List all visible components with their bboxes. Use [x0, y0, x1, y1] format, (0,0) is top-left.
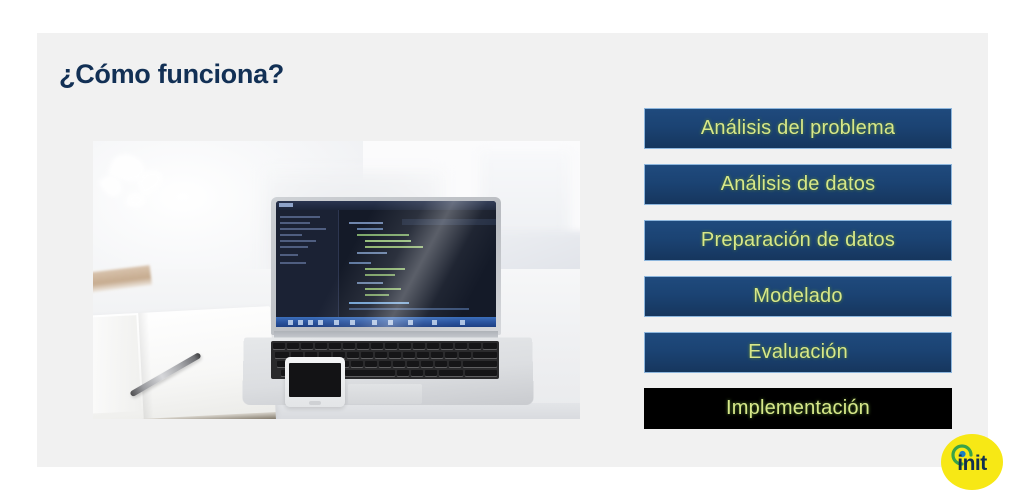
- photo-laptop-trackpad: [348, 384, 422, 404]
- photo-smartphone-home-button: [309, 401, 321, 405]
- photo-smartphone: [285, 357, 345, 407]
- photo-notebook-edge: [93, 412, 276, 419]
- photo-notebook-left-page: [93, 315, 141, 414]
- photo-screen-taskbar: [276, 317, 496, 327]
- step-button-analisis-de-datos[interactable]: Análisis de datos: [644, 164, 952, 205]
- step-label: Análisis de datos: [721, 173, 876, 196]
- step-button-implementacion[interactable]: Implementación: [644, 388, 952, 429]
- step-button-analisis-del-problema[interactable]: Análisis del problema: [644, 108, 952, 149]
- step-label: Modelado: [753, 285, 842, 308]
- init-logo: init: [941, 434, 1003, 490]
- photo-laptop-screen: [276, 201, 496, 327]
- page-title: ¿Cómo funciona?: [59, 59, 284, 90]
- step-button-preparacion-de-datos[interactable]: Preparación de datos: [644, 220, 952, 261]
- workspace-photo: [93, 141, 580, 419]
- photo-screen-menubar: [276, 201, 496, 210]
- photo-smartphone-screen: [289, 363, 341, 397]
- logo-wordmark: init: [941, 453, 1003, 474]
- photo-screen-sidebar: [276, 210, 339, 317]
- step-label: Análisis del problema: [701, 117, 895, 140]
- slide-panel: ¿Cómo funciona?: [37, 33, 988, 467]
- step-label: Evaluación: [748, 341, 848, 364]
- step-button-modelado[interactable]: Modelado: [644, 276, 952, 317]
- step-label: Implementación: [726, 397, 870, 420]
- step-button-evaluacion[interactable]: Evaluación: [644, 332, 952, 373]
- process-steps-list: Análisis del problema Análisis de datos …: [644, 108, 952, 444]
- photo-screen-code-area: [339, 210, 496, 317]
- step-label: Preparación de datos: [701, 229, 895, 252]
